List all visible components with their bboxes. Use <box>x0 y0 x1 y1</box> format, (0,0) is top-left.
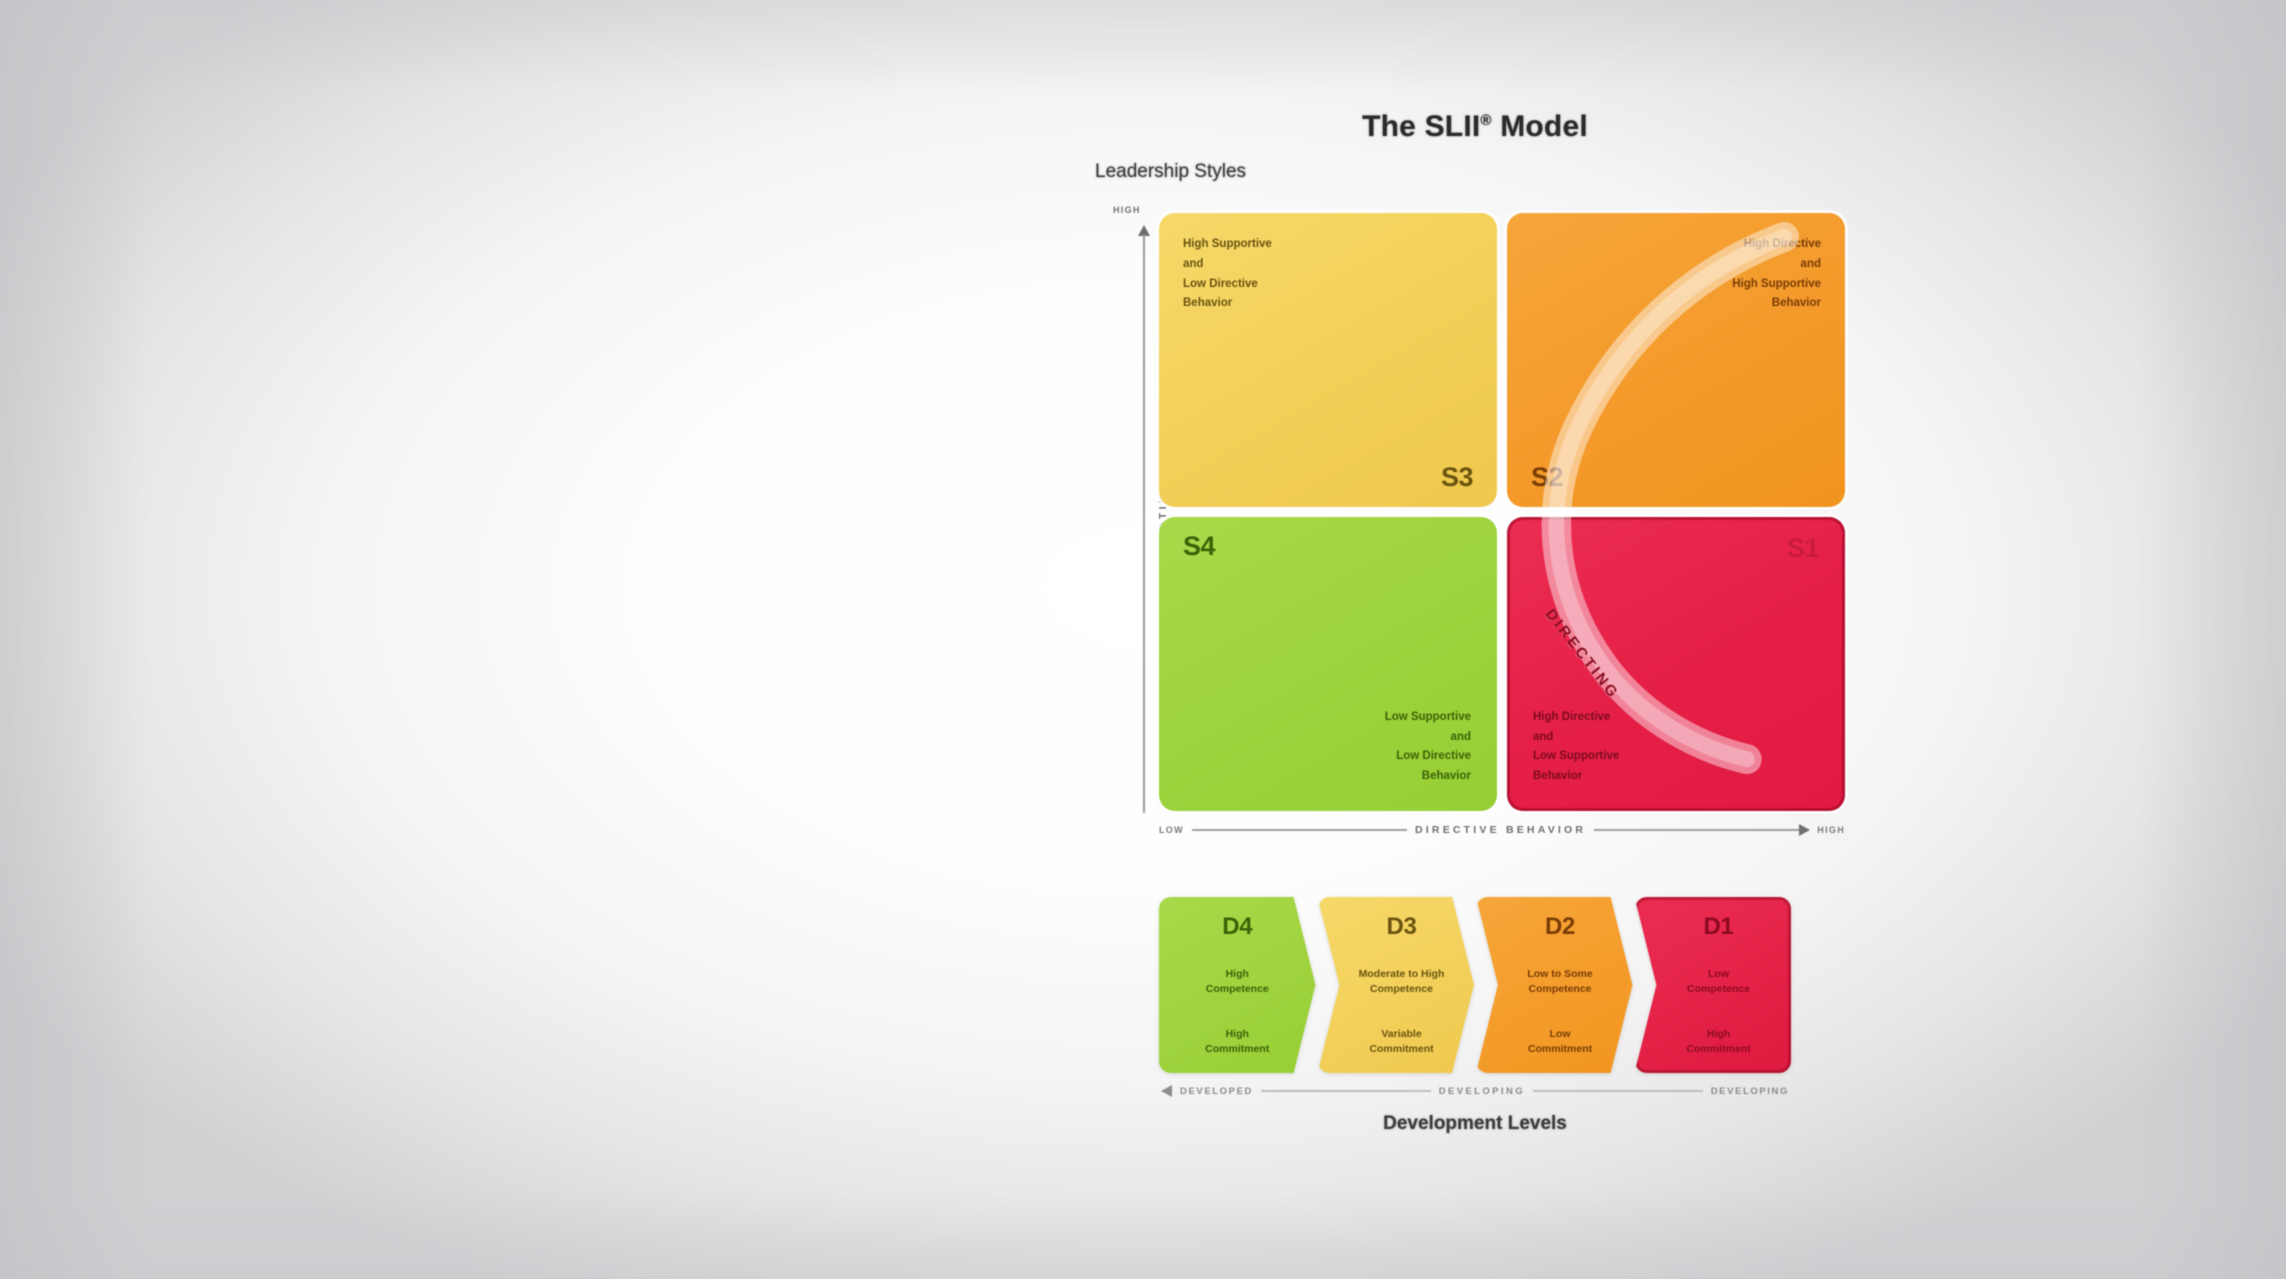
trademark-icon: ® <box>1480 112 1491 129</box>
development-level-d4-body: D4 High Competence High Commitment <box>1165 911 1310 1061</box>
quadrant-s2-description: High Directive and High Supportive Behav… <box>1531 235 1821 314</box>
y-axis-high-label: HIGH <box>1113 205 1141 215</box>
development-level-d3-competence: Moderate to High Competence <box>1359 967 1445 997</box>
quadrant-s1[interactable]: S1 High Directive and Low Supportive Beh… <box>1507 517 1845 811</box>
development-level-d3-body: D3 Moderate to High Competence Variable … <box>1324 911 1469 1061</box>
development-level-d1-competence: Low Competence <box>1687 967 1750 997</box>
development-axis-arrow-icon <box>1161 1085 1172 1097</box>
quadrant-s4[interactable]: S4 Low Supportive and Low Directive Beha… <box>1159 517 1497 811</box>
development-level-d2-body: D2 Low to Some Competence Low Commitment <box>1482 911 1627 1061</box>
development-level-d2[interactable]: D2 Low to Some Competence Low Commitment <box>1476 897 1633 1073</box>
quadrant-s3-description: High Supportive and Low Directive Behavi… <box>1183 235 1473 314</box>
development-level-d4-competence: High Competence <box>1206 967 1269 997</box>
x-axis-rule-right <box>1594 829 1809 831</box>
leadership-styles-matrix: HIGH SUPPORTIVE BEHAVIOR High Supportive… <box>1095 197 1855 857</box>
quadrant-s1-description: High Directive and Low Supportive Behavi… <box>1533 708 1619 787</box>
quadrant-s4-code: S4 <box>1183 531 1215 562</box>
development-axis-rule-right <box>1533 1090 1703 1091</box>
quadrant-s3-code: S3 <box>1441 462 1473 493</box>
development-level-d4-code: D4 <box>1222 913 1252 941</box>
development-level-d2-commitment: Low Commitment <box>1528 1027 1592 1057</box>
development-level-d1-commitment: High Commitment <box>1686 1027 1750 1057</box>
development-level-d4[interactable]: D4 High Competence High Commitment <box>1159 897 1316 1073</box>
leadership-styles-heading: Leadership Styles <box>1095 161 1855 183</box>
x-axis-rule-left <box>1192 829 1407 831</box>
development-level-d2-competence: Low to Some Competence <box>1527 967 1592 997</box>
development-levels-heading: Development Levels <box>1159 1113 1791 1135</box>
quadrant-s3[interactable]: High Supportive and Low Directive Behavi… <box>1159 213 1497 507</box>
development-level-d1-body: D1 Low Competence High Commitment <box>1641 911 1786 1061</box>
development-axis-developing-end-label: DEVELOPING <box>1711 1086 1789 1097</box>
x-axis-arrow-icon <box>1799 824 1810 836</box>
page-title-text: The SLII <box>1362 110 1480 143</box>
development-levels-row: D4 High Competence High Commitment <box>1159 897 1791 1073</box>
slii-model-figure: The SLII® Model Leadership Styles HIGH S… <box>1095 0 1855 1135</box>
development-level-d3-commitment: Variable Commitment <box>1369 1027 1433 1057</box>
quadrant-grid: High Supportive and Low Directive Behavi… <box>1159 213 1845 811</box>
x-axis-label: DIRECTIVE BEHAVIOR <box>1415 824 1586 836</box>
development-level-d4-commitment: High Commitment <box>1205 1027 1269 1057</box>
x-axis-high-label: HIGH <box>1817 825 1845 835</box>
development-axis-developed-label: DEVELOPED <box>1180 1086 1253 1097</box>
quadrant-s2-code: S2 <box>1531 462 1563 493</box>
slide-background: The SLII® Model Leadership Styles HIGH S… <box>0 0 2286 1279</box>
development-level-d1-code: D1 <box>1703 913 1733 941</box>
development-level-d3-code: D3 <box>1386 913 1416 941</box>
quadrant-s1-code: S1 <box>1787 533 1819 564</box>
page-title: The SLII® Model <box>1095 110 1855 144</box>
development-level-d3[interactable]: D3 Moderate to High Competence Variable … <box>1318 897 1475 1073</box>
development-levels-section: D4 High Competence High Commitment <box>1095 897 1855 1135</box>
development-level-d2-code: D2 <box>1545 913 1575 941</box>
quadrant-s2[interactable]: High Directive and High Supportive Behav… <box>1507 213 1845 507</box>
y-axis: HIGH SUPPORTIVE BEHAVIOR <box>1117 213 1157 813</box>
development-axis-rule-left <box>1261 1090 1431 1091</box>
development-axis-developing-label: DEVELOPING <box>1439 1086 1525 1097</box>
x-axis-low-label: LOW <box>1159 825 1184 835</box>
development-axis: DEVELOPED DEVELOPING DEVELOPING <box>1159 1085 1791 1097</box>
y-axis-line <box>1143 235 1145 813</box>
quadrant-s4-description: Low Supportive and Low Directive Behavio… <box>1385 708 1471 787</box>
development-level-d1[interactable]: D1 Low Competence High Commitment <box>1635 897 1792 1073</box>
page-title-tail: Model <box>1492 110 1588 143</box>
x-axis: LOW DIRECTIVE BEHAVIOR HIGH <box>1159 817 1845 843</box>
